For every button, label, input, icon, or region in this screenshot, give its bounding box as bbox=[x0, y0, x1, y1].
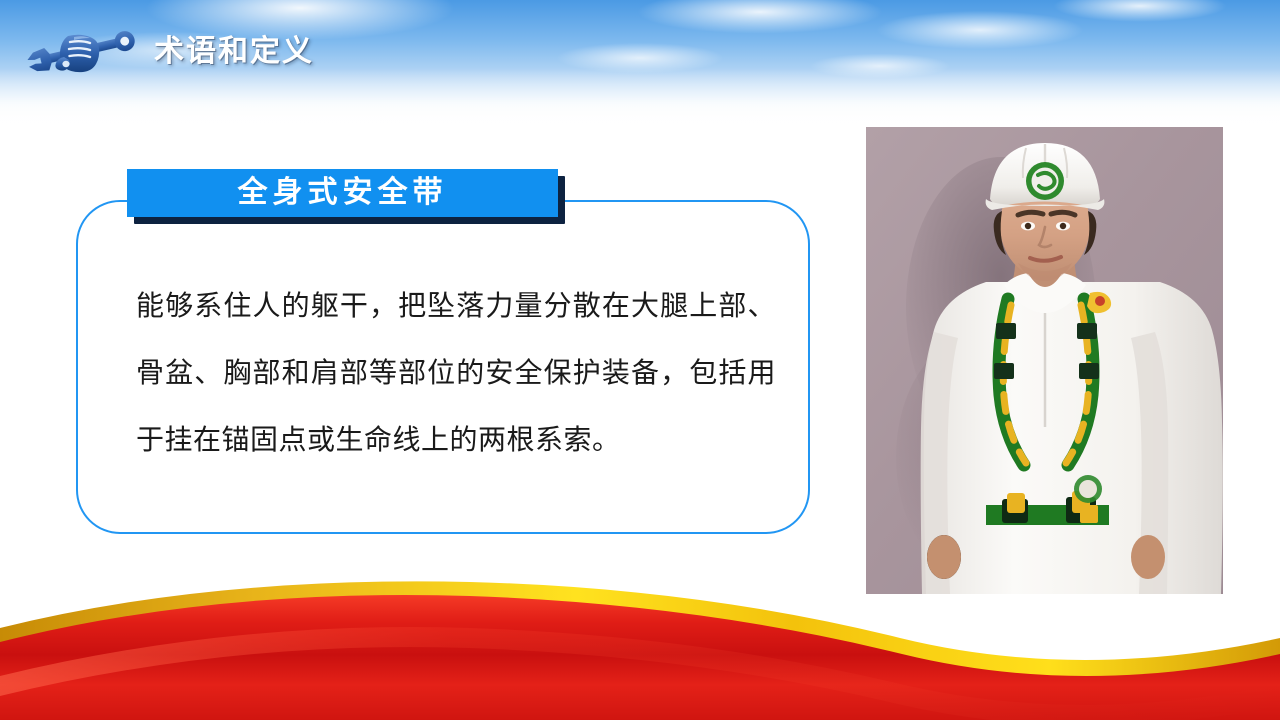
page-title: 术语和定义 bbox=[154, 32, 314, 72]
harness-worker-photo bbox=[866, 127, 1223, 594]
heading-chip: 全身式安全带 bbox=[127, 169, 558, 217]
bottom-decorative-wave bbox=[0, 580, 1280, 720]
hand-holding-wrench-icon bbox=[14, 22, 146, 78]
heading-chip-label: 全身式安全带 bbox=[238, 176, 448, 210]
slide-root: 术语和定义 全身式安全带 能够系住人的躯干，把坠落力量分散在大腿上部、骨盆、胸部… bbox=[0, 0, 1280, 720]
definition-body-text: 能够系住人的躯干，把坠落力量分散在大腿上部、骨盆、胸部和肩部等部位的安全保护装备… bbox=[136, 272, 776, 473]
